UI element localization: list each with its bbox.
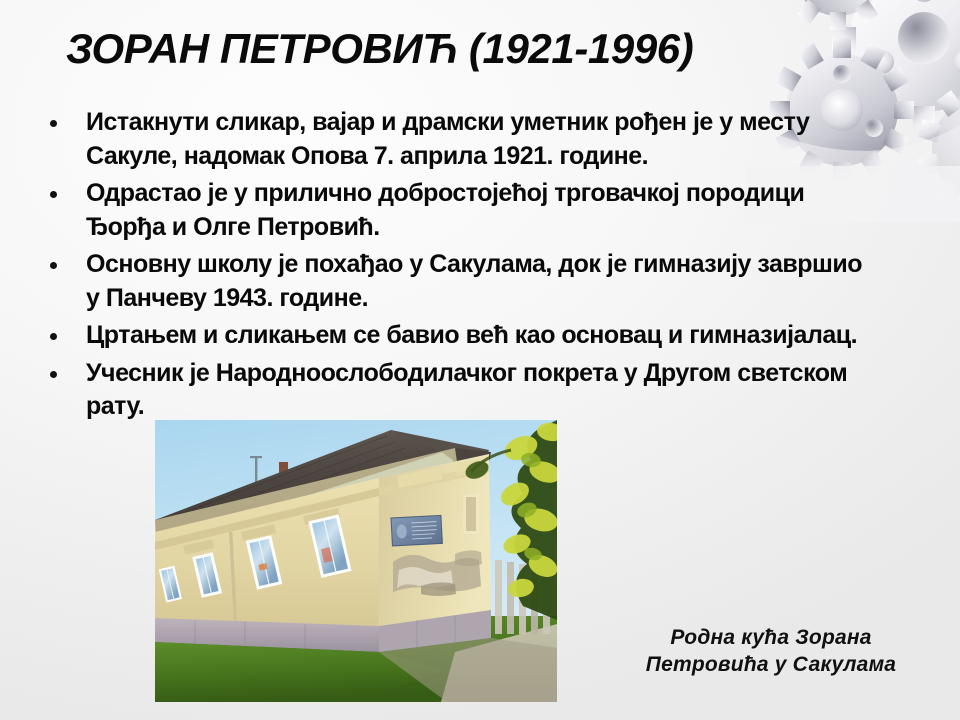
bullet-list: Истакнути сликар, вајар и драмски уметни… (40, 106, 870, 428)
page-title: ЗОРАН ПЕТРОВИЋ (1921-1996) (66, 24, 866, 74)
birth-house-photo (155, 420, 557, 702)
list-item: Истакнути сликар, вајар и драмски уметни… (40, 106, 870, 173)
image-caption: Родна кућа Зорана Петровића у Сакулама (596, 624, 946, 678)
caption-line-1: Родна кућа Зорана (596, 624, 946, 651)
list-item: Цртањем и сликањем се бавио већ као осно… (40, 319, 870, 353)
list-item: Одрастао је у прилично добростојећој трг… (40, 177, 870, 244)
list-item: Основну школу је похађао у Сакулама, док… (40, 248, 870, 315)
list-item: Учесник је Народноослободилачког покрета… (40, 357, 870, 424)
slide-canvas: ЗОРАН ПЕТРОВИЋ (1921-1996) Истакнути сли… (0, 0, 960, 720)
caption-line-2: Петровића у Сакулама (596, 651, 946, 678)
